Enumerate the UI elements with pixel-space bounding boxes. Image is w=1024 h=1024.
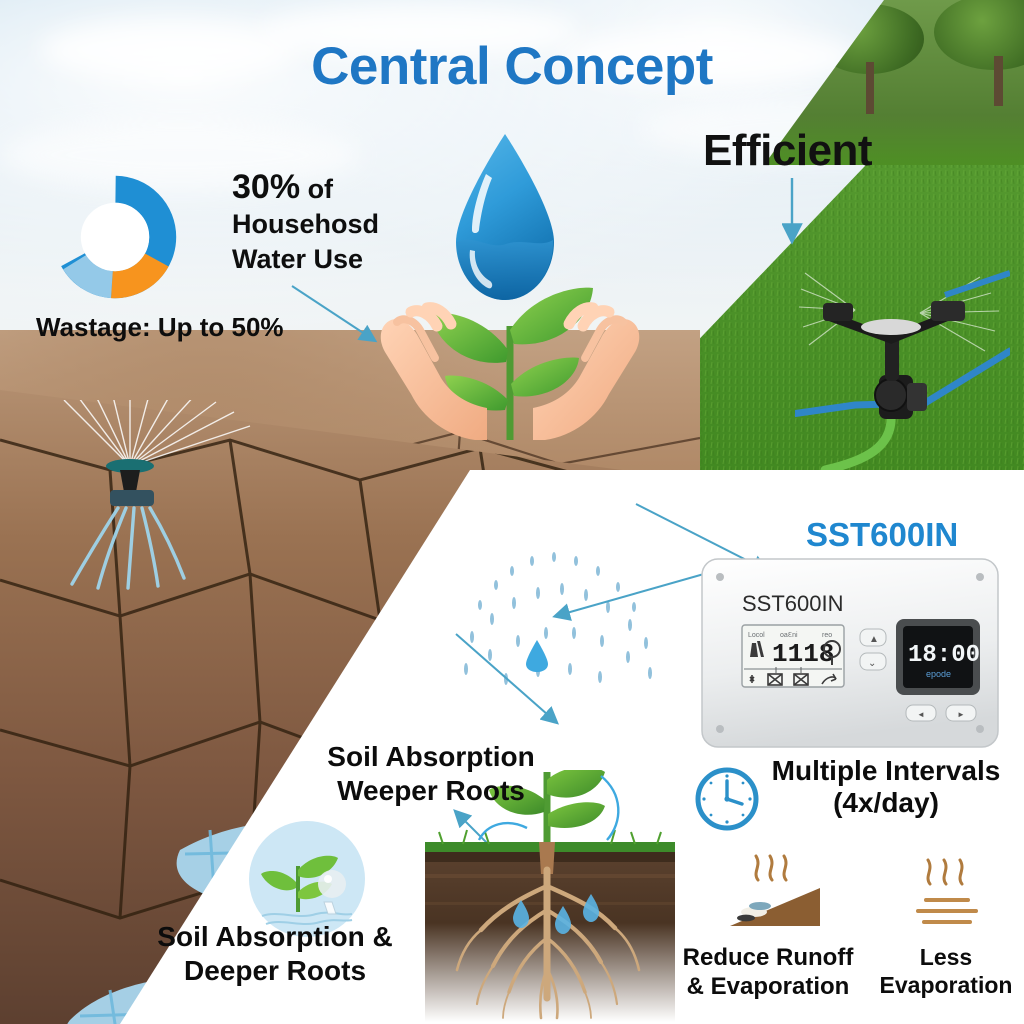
svg-text:►: ►: [957, 710, 965, 719]
svg-text:Locol: Locol: [748, 632, 765, 639]
soil-absorption-weeper-label: Soil Absorption Weeper Roots: [296, 740, 566, 807]
less-evaporation-label: Less Evaporation: [866, 944, 1024, 999]
soil-absorption-deeper-line-2: Deeper Roots: [184, 955, 366, 986]
soil-absorption-deeper-line-1: Soil Absorption &: [157, 921, 392, 952]
irrigation-controller[interactable]: SST600IN Locol oaℇni reo 1118 ▲: [700, 553, 1000, 753]
intervals-line-2: (4x/day): [833, 787, 939, 818]
stat-line-2: Househosd: [232, 209, 379, 239]
page-title: Central Concept: [0, 36, 1024, 97]
reduce-runoff-label: Reduce Runoff & Evaporation: [678, 944, 858, 1002]
svg-text:reo: reo: [822, 632, 832, 639]
hands-holding-plant-icon: [375, 268, 645, 443]
efficient-label: Efficient: [703, 126, 872, 176]
water-spray-icon: [450, 545, 680, 695]
runoff-slope-icon: [724, 854, 829, 934]
stat-percent: 30%: [232, 168, 300, 206]
plant-roots-cross-section-icon: [415, 770, 685, 1024]
multiple-intervals-label: Multiple Intervals (4x/day): [766, 755, 1006, 819]
reduce-runoff-line-2: & Evaporation: [687, 973, 850, 1000]
infographic-canvas: Central Concept 30% of Househosd Water U…: [0, 0, 1024, 1024]
svg-text:18:00: 18:00: [908, 642, 980, 669]
soil-absorption-deeper-label: Soil Absorption & Deeper Roots: [150, 920, 400, 987]
svg-text:◄: ◄: [917, 710, 925, 719]
svg-text:⌄: ⌄: [868, 658, 876, 669]
svg-text:SST600IN: SST600IN: [742, 591, 844, 616]
intervals-line-1: Multiple Intervals: [772, 755, 1001, 786]
wastage-caption: Wastage: Up to 50%: [36, 312, 284, 343]
reduce-runoff-line-1: Reduce Runoff: [683, 944, 854, 971]
stat-of: of: [300, 174, 333, 204]
svg-text:▲: ▲: [869, 634, 879, 645]
soil-absorption-weeper-line-2: Weeper Roots: [337, 775, 525, 806]
donut-chart-icon: [52, 174, 178, 300]
svg-text:epode: epode: [926, 669, 951, 679]
stat-line-3: Water Use: [232, 244, 363, 274]
clock-icon: [694, 766, 760, 832]
svg-text:oaℇni: oaℇni: [780, 632, 798, 639]
product-name-heading: SST600IN: [806, 516, 958, 554]
soil-absorption-weeper-line-1: Soil Absorption: [327, 741, 534, 772]
household-water-stat: 30% of Househosd Water Use: [232, 168, 422, 276]
heat-waves-icon: [902, 854, 992, 934]
sprinkler-icon: [58, 400, 288, 590]
rotating-sprinkler-icon: [795, 265, 1010, 485]
